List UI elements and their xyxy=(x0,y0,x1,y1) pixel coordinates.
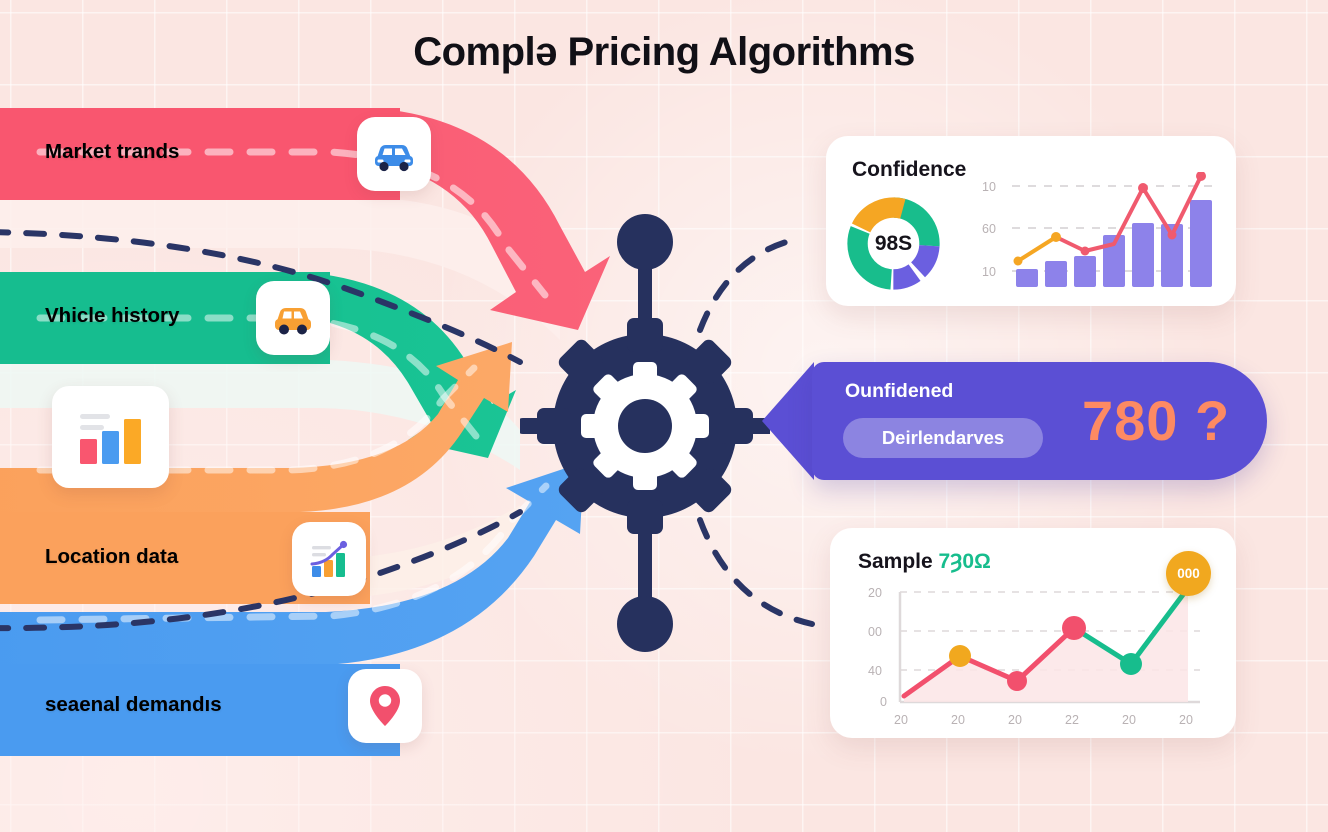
car-blue-icon xyxy=(357,117,431,191)
confidence-card-title: Confidence xyxy=(852,158,966,182)
sample-xtick-4: 20 xyxy=(1122,713,1136,727)
conf-ytick-1: 60 xyxy=(982,222,996,236)
sample-card-title: Sample 7Ȝ0Ω xyxy=(858,550,991,574)
sample-ytick-3: 0 xyxy=(880,695,887,709)
confidence-donut-chart xyxy=(846,196,941,296)
result-banner-label: Ounfidened xyxy=(845,380,953,403)
car-orange-icon xyxy=(256,281,330,355)
page-title: Complə Pricing Algorithms xyxy=(0,30,1328,75)
result-banner-arrow xyxy=(762,362,814,480)
sample-xtick-5: 20 xyxy=(1179,713,1193,727)
conf-ytick-2: 10 xyxy=(982,265,996,279)
sample-title-prefix: Sample xyxy=(858,550,939,573)
flow-label-market-trends: Market trands xyxy=(45,140,179,164)
sample-title-value: 7Ȝ0Ω xyxy=(939,550,991,573)
conf-ytick-0: 10 xyxy=(982,180,996,194)
sample-badge: 000 xyxy=(1166,551,1211,596)
bar-chart-card-icon xyxy=(52,386,169,488)
result-banner-value: 780 ? xyxy=(1082,388,1230,453)
map-pin-icon xyxy=(348,669,422,743)
sample-xtick-2: 20 xyxy=(1008,713,1022,727)
result-banner-pill[interactable]: Deirlendarves xyxy=(843,418,1043,458)
bar-chart-growth-icon xyxy=(292,522,366,596)
confidence-bar-line-chart: 10 60 10 xyxy=(968,172,1218,292)
sample-xtick-0: 20 xyxy=(894,713,908,727)
gear-icon xyxy=(520,212,770,657)
sample-xtick-3: 22 xyxy=(1065,713,1079,727)
infographic-canvas: Complə Pricing Algorithms Market trands … xyxy=(0,0,1328,832)
sample-ytick-2: 40 xyxy=(868,664,882,678)
sample-line-chart: 20 00 40 0 20 20 20 22 20 20 xyxy=(852,578,1222,728)
sample-xtick-1: 20 xyxy=(951,713,965,727)
sample-ytick-0: 20 xyxy=(868,586,882,600)
sample-ytick-1: 00 xyxy=(868,625,882,639)
flow-label-vehicle-history: Vhicle history xyxy=(45,304,179,328)
flow-label-location-data: Location data xyxy=(45,545,178,569)
flow-label-seasonal-demands: seaenal demandıs xyxy=(45,693,222,717)
result-banner-pill-label: Deirlendarves xyxy=(882,427,1004,449)
